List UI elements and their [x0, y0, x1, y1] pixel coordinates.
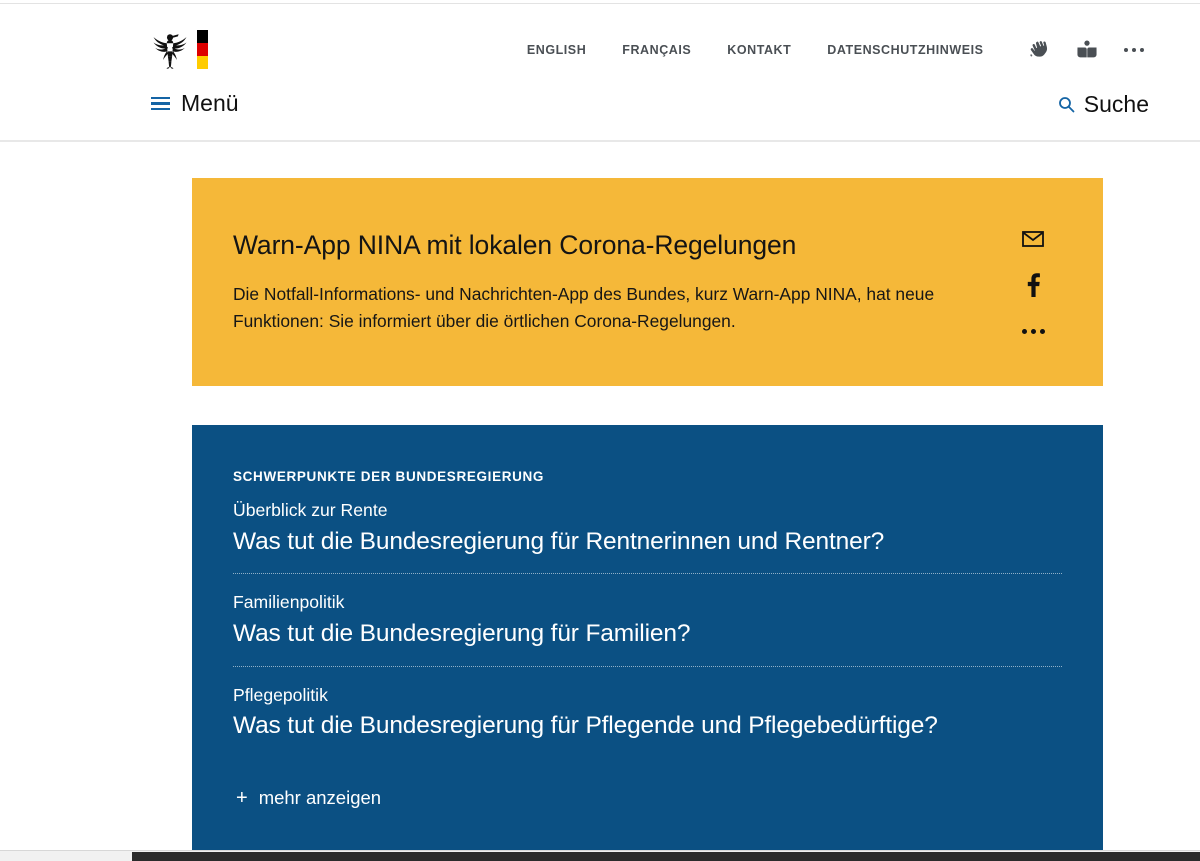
menu-toggle-button[interactable]: Menü: [151, 92, 239, 115]
primary-nav-row: Menü Suche: [0, 92, 1200, 140]
mail-icon[interactable]: [1021, 228, 1045, 250]
scrollbar-thumb[interactable]: [132, 852, 1200, 861]
bundesadler-eagle-icon: [152, 31, 188, 69]
teaser-description: Die Notfall-Informations- und Nachrichte…: [233, 281, 993, 334]
teaser-yellow-text-block: Warn-App NINA mit lokalen Corona-Regelun…: [233, 230, 1003, 334]
teaser-warn-app-nina[interactable]: Warn-App NINA mit lokalen Corona-Regelun…: [192, 178, 1103, 386]
meta-link-english[interactable]: ENGLISH: [509, 43, 604, 57]
list-item-title[interactable]: Was tut die Bundesregierung für Familien…: [233, 619, 1062, 648]
list-item-kicker: Überblick zur Rente: [233, 499, 1062, 522]
share-button-group: [1021, 228, 1045, 342]
meta-link-kontakt[interactable]: KONTAKT: [709, 43, 809, 57]
list-item-kicker: Familienpolitik: [233, 591, 1062, 614]
search-label: Suche: [1084, 93, 1149, 116]
more-dots-icon[interactable]: [1124, 48, 1145, 53]
facebook-icon[interactable]: [1021, 274, 1045, 296]
meta-link-francais[interactable]: FRANÇAIS: [604, 43, 709, 57]
show-more-button[interactable]: + mehr anzeigen: [236, 788, 381, 808]
site-header: ENGLISH FRANÇAIS KONTAKT DATENSCHUTZHINW…: [0, 4, 1200, 142]
search-icon: [1058, 96, 1075, 113]
easy-language-book-icon[interactable]: [1076, 40, 1098, 60]
menu-label: Menü: [181, 92, 239, 115]
list-item-title[interactable]: Was tut die Bundesregierung für Pflegend…: [233, 711, 1062, 740]
horizontal-scrollbar[interactable]: [0, 850, 1200, 861]
more-dots-icon[interactable]: [1021, 320, 1045, 342]
german-flag-bar: [197, 30, 208, 69]
show-more-label: mehr anzeigen: [259, 789, 381, 808]
list-item[interactable]: Pflegepolitik Was tut die Bundesregierun…: [233, 666, 1062, 741]
search-toggle-button[interactable]: Suche: [1058, 93, 1149, 116]
hamburger-icon: [151, 97, 170, 110]
teaser-title[interactable]: Warn-App NINA mit lokalen Corona-Regelun…: [233, 230, 1003, 260]
list-item-title[interactable]: Was tut die Bundesregierung für Rentneri…: [233, 527, 1062, 556]
list-item[interactable]: Familienpolitik Was tut die Bundesregier…: [233, 573, 1062, 665]
sign-language-icon[interactable]: [1028, 40, 1050, 60]
main-content: Warn-App NINA mit lokalen Corona-Regelun…: [0, 142, 1200, 861]
section-kicker: SCHWERPUNKTE DER BUNDESREGIERUNG: [233, 469, 544, 484]
meta-icon-group: [1028, 40, 1145, 60]
plus-icon: +: [236, 788, 248, 808]
list-item-kicker: Pflegepolitik: [233, 684, 1062, 707]
site-logo[interactable]: [152, 30, 208, 69]
focus-list: Überblick zur Rente Was tut die Bundesre…: [233, 499, 1062, 741]
list-item[interactable]: Überblick zur Rente Was tut die Bundesre…: [233, 499, 1062, 573]
meta-navigation: ENGLISH FRANÇAIS KONTAKT DATENSCHUTZHINW…: [509, 40, 1144, 60]
meta-link-datenschutzhinweis[interactable]: DATENSCHUTZHINWEIS: [809, 43, 1001, 57]
